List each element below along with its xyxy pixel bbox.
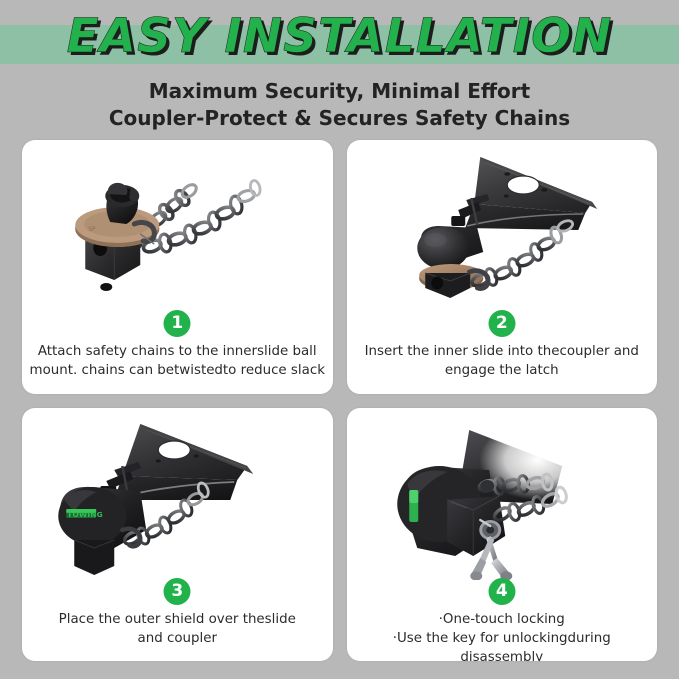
svg-text:SP: SP — [88, 226, 96, 233]
step-caption-4-line-2: ·Use the key for unlockingduring disasse… — [353, 629, 652, 661]
step-badge-2: 2 — [488, 310, 515, 337]
step-caption-3-line-1: Place the outer shield over theslide — [28, 610, 327, 629]
subtitle-line-1: Maximum Security, Minimal Effort — [0, 78, 679, 105]
step-caption-1-line-2: mount. chains can betwistedto reduce sla… — [28, 361, 327, 380]
step-caption-2: Insert the inner slide into thecoupler a… — [353, 342, 652, 381]
step-caption-1-line-1: Attach safety chains to the innerslide b… — [28, 342, 327, 361]
brand-logo-mark: TOWING — [66, 509, 103, 519]
step-caption-2-line-1: Insert the inner slide into thecoupler a… — [353, 342, 652, 361]
step-badge-3: 3 — [164, 578, 191, 605]
step-caption-3-line-2: and coupler — [28, 629, 327, 648]
step-card-3[interactable]: TOWING — [22, 408, 333, 662]
subtitle-line-2: Coupler-Protect & Secures Safety Chains — [0, 105, 679, 132]
step-card-1[interactable]: SP 1 Attach safety chains to the innersl… — [22, 140, 333, 394]
step-caption-3: Place the outer shield over theslide and… — [28, 610, 327, 649]
coupler-over-ball-mount-photo — [347, 140, 658, 312]
step-card-4[interactable]: 4 ·One-touch locking ·Use the key for un… — [347, 408, 658, 662]
locked-coupler-with-key-photo — [347, 408, 658, 580]
step-caption-4: ·One-touch locking ·Use the key for unlo… — [353, 610, 652, 662]
page-title: EASY INSTALLATION — [0, 12, 679, 62]
step-card-2[interactable]: 2 Insert the inner slide into thecoupler… — [347, 140, 658, 394]
outer-shield-installed-photo: TOWING — [22, 408, 333, 580]
step-badge-4: 4 — [488, 578, 515, 605]
svg-text:TOWING: TOWING — [67, 510, 103, 519]
step-caption-2-line-2: engage the latch — [353, 361, 652, 380]
step-badge-1: 1 — [164, 310, 191, 337]
ball-mount-with-safety-chains-photo: SP — [22, 140, 333, 312]
steps-grid: SP 1 Attach safety chains to the innersl… — [22, 140, 657, 661]
subtitle-block: Maximum Security, Minimal Effort Coupler… — [0, 78, 679, 132]
step-caption-4-line-1: ·One-touch locking — [353, 610, 652, 629]
step-caption-1: Attach safety chains to the innerslide b… — [28, 342, 327, 381]
header-banner: EASY INSTALLATION Maximum Security, Mini… — [0, 0, 679, 138]
